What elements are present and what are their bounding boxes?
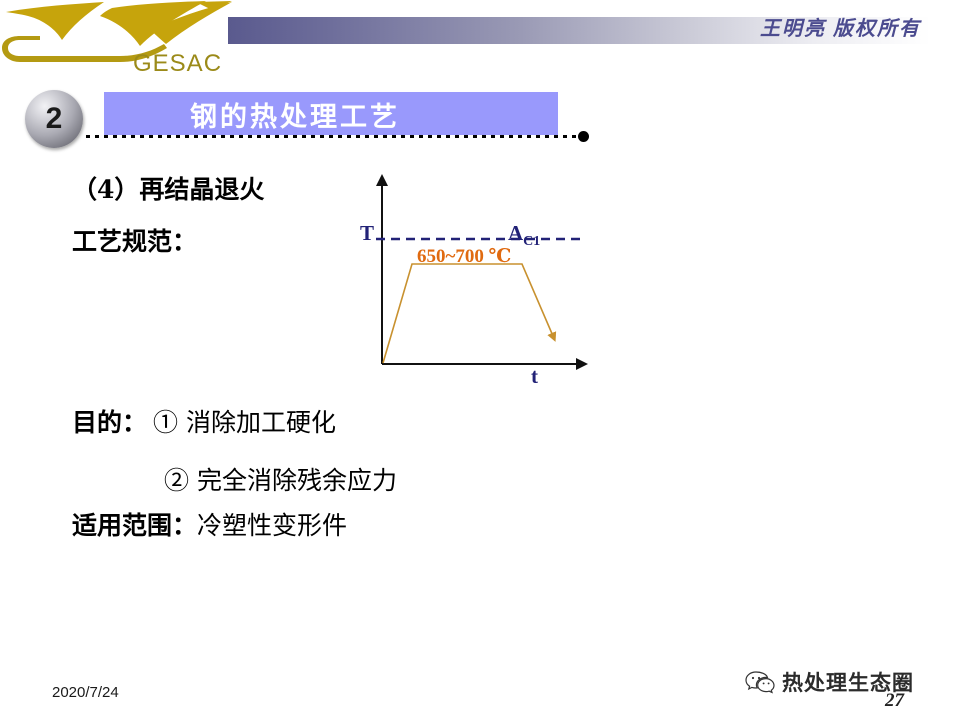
purpose-item-2: ② 完全消除残余应力 xyxy=(164,461,397,497)
ac1-letter: A xyxy=(508,221,523,245)
purpose-line-1: 目的：① 消除加工硬化 xyxy=(72,403,336,439)
title-rule-end-dot xyxy=(578,131,589,142)
chart-y-axis-label: T xyxy=(360,221,374,246)
copyright-watermark: 王明亮 版权所有 xyxy=(760,12,950,41)
slide-canvas: 王明亮 版权所有 GESAC 2 钢的热处理工艺 （4）再结晶退火 工艺规范： … xyxy=(0,0,960,720)
section-number-sphere: 2 xyxy=(25,90,83,148)
slide-date: 2020/7/24 xyxy=(52,684,119,701)
scope-line: 适用范围：冷塑性变形件 xyxy=(72,506,347,542)
scope-value: 冷塑性变形件 xyxy=(197,511,347,540)
wechat-icon xyxy=(745,670,775,694)
purpose-label: 目的： xyxy=(72,408,147,437)
process-spec-label: 工艺规范： xyxy=(72,222,197,258)
ac1-subscript: C1 xyxy=(523,234,540,249)
subsection-heading: （4）再结晶退火 xyxy=(72,170,264,206)
process-curve xyxy=(383,264,553,363)
section-number-label: 2 xyxy=(25,102,83,136)
page-number: 27 xyxy=(885,690,904,712)
page-title: 钢的热处理工艺 xyxy=(190,95,560,134)
title-dotted-rule xyxy=(86,135,583,138)
gesac-logo: GESAC xyxy=(0,0,240,84)
gesac-logo-text: GESAC xyxy=(133,50,222,78)
heat-treatment-curve-chart xyxy=(350,168,600,393)
scope-label: 适用范围： xyxy=(72,511,197,540)
purpose-item-1: ① 消除加工硬化 xyxy=(147,408,336,437)
chart-x-axis-label: t xyxy=(531,364,538,389)
temperature-annotation: 650~700 ℃ xyxy=(417,245,511,268)
ac1-label: AC1 xyxy=(508,221,540,250)
